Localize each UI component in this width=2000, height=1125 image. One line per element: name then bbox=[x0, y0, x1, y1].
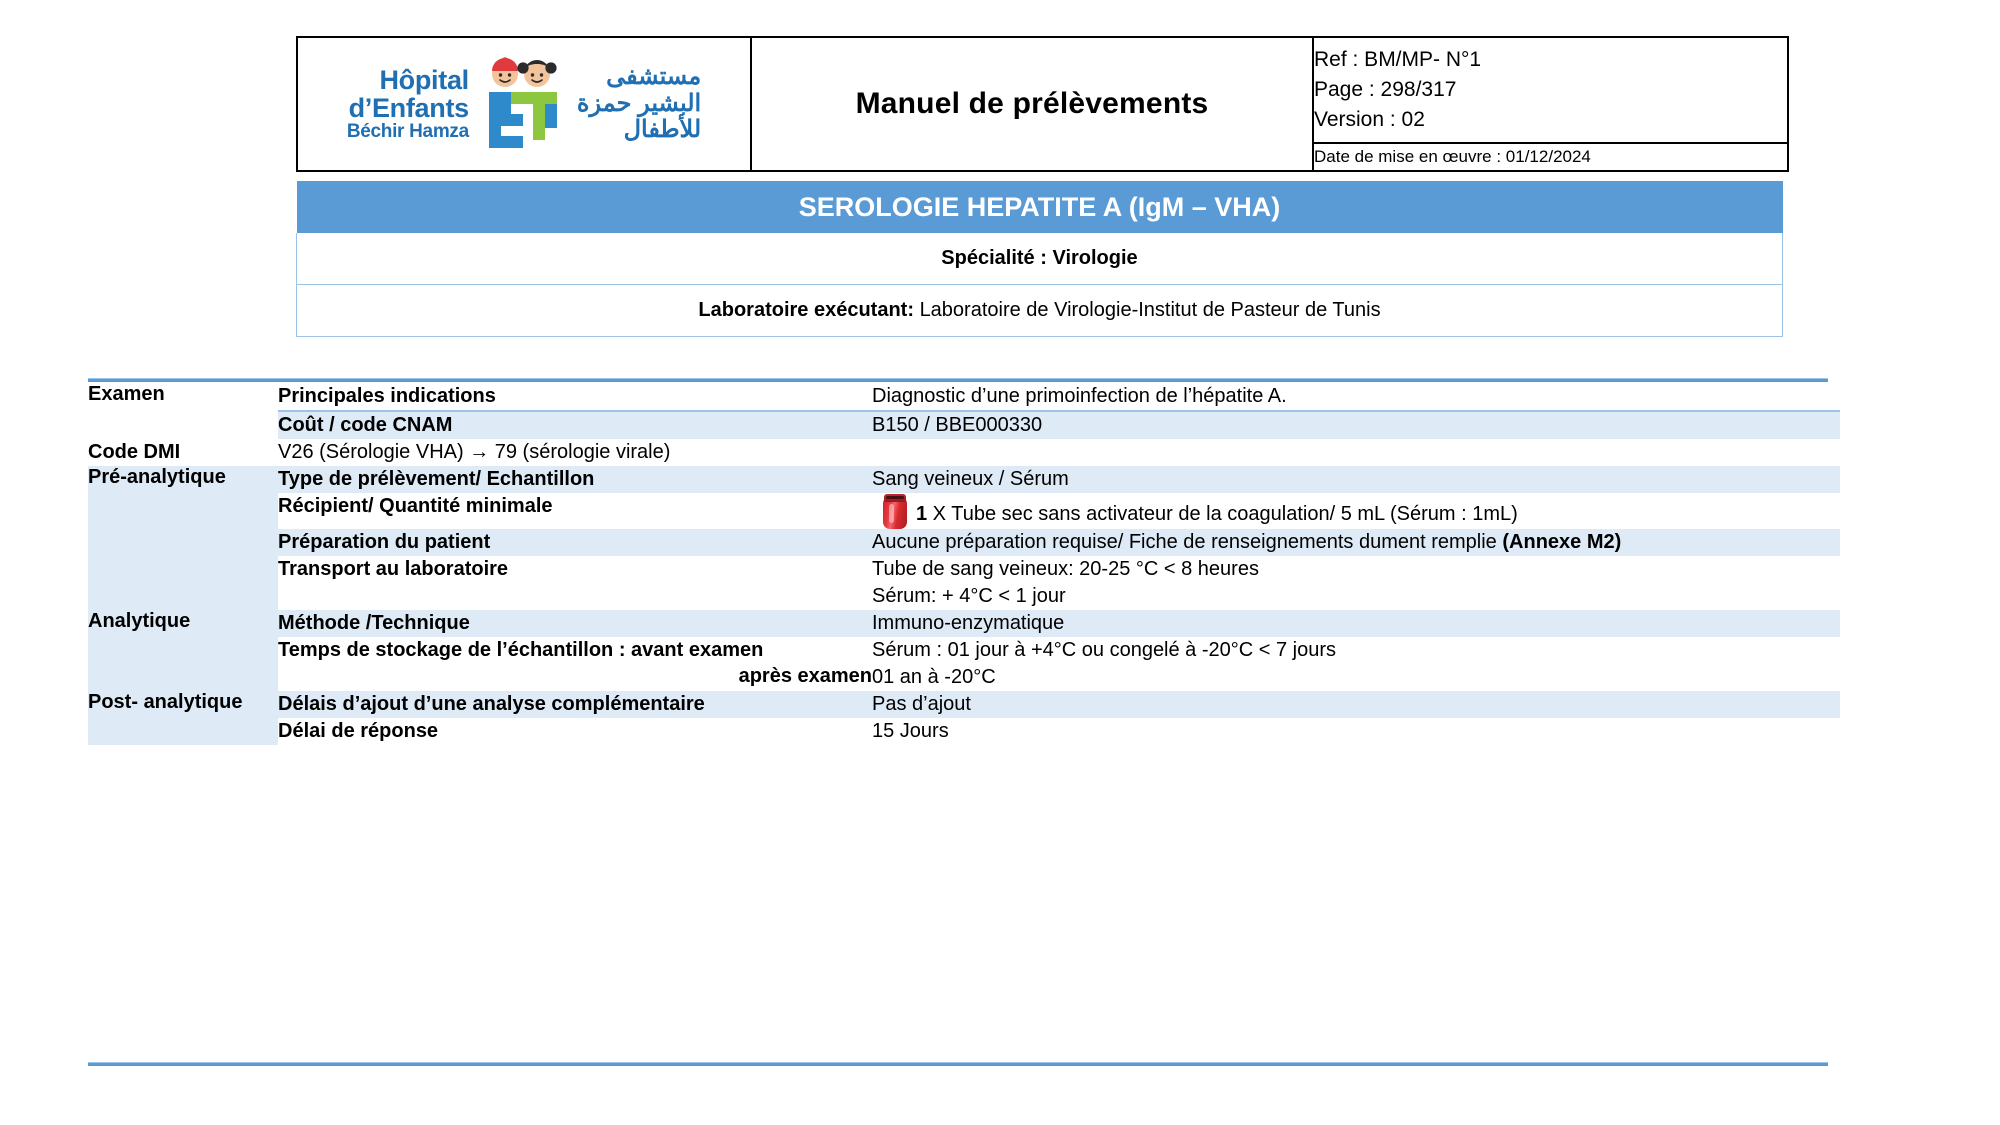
logo-arabic-line-1: مستشفى bbox=[577, 64, 701, 91]
logo-line-bechir-hamza: Béchir Hamza bbox=[347, 122, 469, 142]
exam-title-row: SEROLOGIE HEPATITE A (IgM – VHA) bbox=[297, 181, 1783, 233]
row-label: Délai de réponse bbox=[278, 718, 872, 745]
row-label: Méthode /Technique bbox=[278, 610, 872, 637]
lab-value: Laboratoire de Virologie-Institut de Pas… bbox=[920, 299, 1381, 321]
speciality-row: Spécialité : Virologie bbox=[297, 233, 1783, 285]
exam-details-table: Examen Principales indications Diagnosti… bbox=[88, 383, 1840, 745]
table-top-rule bbox=[88, 378, 1828, 382]
document-date-cell: Date de mise en œuvre : 01/12/2024 bbox=[1313, 143, 1788, 171]
speciality-label: Spécialité : bbox=[941, 247, 1047, 269]
row-value: Tube de sang veineux: 20-25 °C < 8 heure… bbox=[872, 556, 1840, 610]
row-value: V26 (Sérologie VHA) → 79 (sérologie vira… bbox=[278, 439, 872, 466]
table-row: Code DMI V26 (Sérologie VHA) → 79 (sérol… bbox=[88, 439, 1840, 466]
row-value-line-1: Tube de sang veineux: 20-25 °C < 8 heure… bbox=[872, 556, 1840, 583]
logo-line-denfants: d’Enfants bbox=[347, 94, 469, 122]
meta-version: Version : 02 bbox=[1314, 105, 1787, 135]
row-label: Principales indications bbox=[278, 383, 872, 410]
lab-row: Laboratoire exécutant: Laboratoire de Vi… bbox=[297, 285, 1783, 337]
table-row: Pré-analytique Type de prélèvement/ Echa… bbox=[88, 466, 1840, 493]
category-analytique-label: Analytique bbox=[88, 610, 190, 632]
row-label: Récipient/ Quantité minimale bbox=[278, 493, 872, 529]
table-row: Analytique Méthode /Technique Immuno-enz… bbox=[88, 610, 1840, 637]
manual-title-cell: Manuel de prélèvements bbox=[751, 37, 1313, 171]
exam-title: SEROLOGIE HEPATITE A (IgM – VHA) bbox=[297, 181, 1783, 233]
category-post-analytique: Post- analytique bbox=[88, 691, 278, 745]
blood-tube-icon bbox=[882, 493, 908, 529]
row-value-line-2: 01 an à -20°C bbox=[872, 664, 1840, 691]
category-post-analytique-label-line-2: analytique bbox=[144, 691, 243, 713]
table-row: Temps de stockage de l’échantillon : ava… bbox=[88, 637, 1840, 691]
row-value: Diagnostic d’une primoinfection de l’hép… bbox=[872, 383, 1840, 410]
category-pre-analytique: Pré-analytique bbox=[88, 466, 278, 610]
lab-label: Laboratoire exécutant: bbox=[698, 299, 914, 321]
meta-ref: Ref : BM/MP- N°1 bbox=[1314, 45, 1787, 75]
row-label: Temps de stockage de l’échantillon : ava… bbox=[278, 637, 872, 691]
row-label: Délais d’ajout d’une analyse complémenta… bbox=[278, 691, 872, 718]
hospital-emblem-icon bbox=[475, 52, 571, 156]
row-label: Type de prélèvement/ Echantillon bbox=[278, 466, 872, 493]
logo-french-text: Hôpital d’Enfants Béchir Hamza bbox=[347, 66, 469, 142]
table-row: Coût / code CNAM B150 / BBE000330 bbox=[88, 412, 1840, 439]
table-row: Préparation du patient Aucune préparatio… bbox=[88, 529, 1840, 556]
document-page: Hôpital d’Enfants Béchir Hamza bbox=[0, 0, 2000, 1125]
table-bottom-rule bbox=[88, 1062, 1828, 1066]
row-value: B150 / BBE000330 bbox=[872, 412, 1840, 439]
row-value-count: 1 bbox=[916, 503, 927, 525]
row-value: Immuno-enzymatique bbox=[872, 610, 1840, 637]
category-pre-analytique-label: Pré-analytique bbox=[88, 466, 226, 488]
hospital-logo: Hôpital d’Enfants Béchir Hamza bbox=[298, 38, 750, 170]
document-header-table: Hôpital d’Enfants Béchir Hamza bbox=[296, 36, 1789, 172]
row-value-text: X Tube sec sans activateur de la coagula… bbox=[927, 503, 1518, 525]
row-label: Coût / code CNAM bbox=[278, 412, 872, 439]
row-value: Pas d’ajout bbox=[872, 691, 1840, 718]
row-value-annex: (Annexe M2) bbox=[1502, 531, 1621, 553]
table-row: Récipient/ Quantité minimale 1 X Tube se… bbox=[88, 493, 1840, 529]
row-value: 1 X Tube sec sans activateur de la coagu… bbox=[872, 493, 1840, 529]
row-value: Sérum : 01 jour à +4°C ou congelé à -20°… bbox=[872, 637, 1840, 691]
hospital-logo-cell: Hôpital d’Enfants Béchir Hamza bbox=[297, 37, 751, 171]
row-label: Préparation du patient bbox=[278, 529, 872, 556]
row-label: Code DMI bbox=[88, 439, 278, 466]
table-row: Post- analytique Délais d’ajout d’une an… bbox=[88, 691, 1840, 718]
table-row: Transport au laboratoire Tube de sang ve… bbox=[88, 556, 1840, 610]
row-value: 15 Jours bbox=[872, 718, 1840, 745]
row-label-line-2: après examen bbox=[278, 663, 872, 689]
row-value: Aucune préparation requise/ Fiche de ren… bbox=[872, 529, 1840, 556]
row-value-text: Aucune préparation requise/ Fiche de ren… bbox=[872, 531, 1502, 553]
logo-arabic-line-2: البشير حمزة bbox=[577, 91, 701, 118]
table-row: Délai de réponse 15 Jours bbox=[88, 718, 1840, 745]
meta-page: Page : 298/317 bbox=[1314, 75, 1787, 105]
manual-title: Manuel de prélèvements bbox=[856, 87, 1209, 120]
row-value: Sang veineux / Sérum bbox=[872, 466, 1840, 493]
speciality-value: Virologie bbox=[1052, 247, 1137, 269]
category-examen: Examen bbox=[88, 383, 278, 439]
category-examen-label: Examen bbox=[88, 383, 165, 405]
row-value-line-1: Sérum : 01 jour à +4°C ou congelé à -20°… bbox=[872, 637, 1840, 664]
logo-arabic-text: مستشفى البشير حمزة للأطفال bbox=[577, 64, 701, 145]
table-row: Examen Principales indications Diagnosti… bbox=[88, 383, 1840, 410]
row-value-line-2: Sérum: + 4°C < 1 jour bbox=[872, 583, 1840, 610]
logo-arabic-line-3: للأطفال bbox=[577, 117, 701, 144]
logo-line-hopital: Hôpital bbox=[347, 66, 469, 94]
category-analytique: Analytique bbox=[88, 610, 278, 691]
row-label: Transport au laboratoire bbox=[278, 556, 872, 610]
row-label-line-1: Temps de stockage de l’échantillon : ava… bbox=[278, 639, 763, 661]
document-meta-cell: Ref : BM/MP- N°1 Page : 298/317 Version … bbox=[1313, 37, 1788, 143]
category-post-analytique-label-line-1: Post- bbox=[88, 691, 138, 713]
exam-banner-table: SEROLOGIE HEPATITE A (IgM – VHA) Spécial… bbox=[296, 181, 1783, 337]
meta-effective-date: Date de mise en œuvre : 01/12/2024 bbox=[1314, 146, 1787, 168]
